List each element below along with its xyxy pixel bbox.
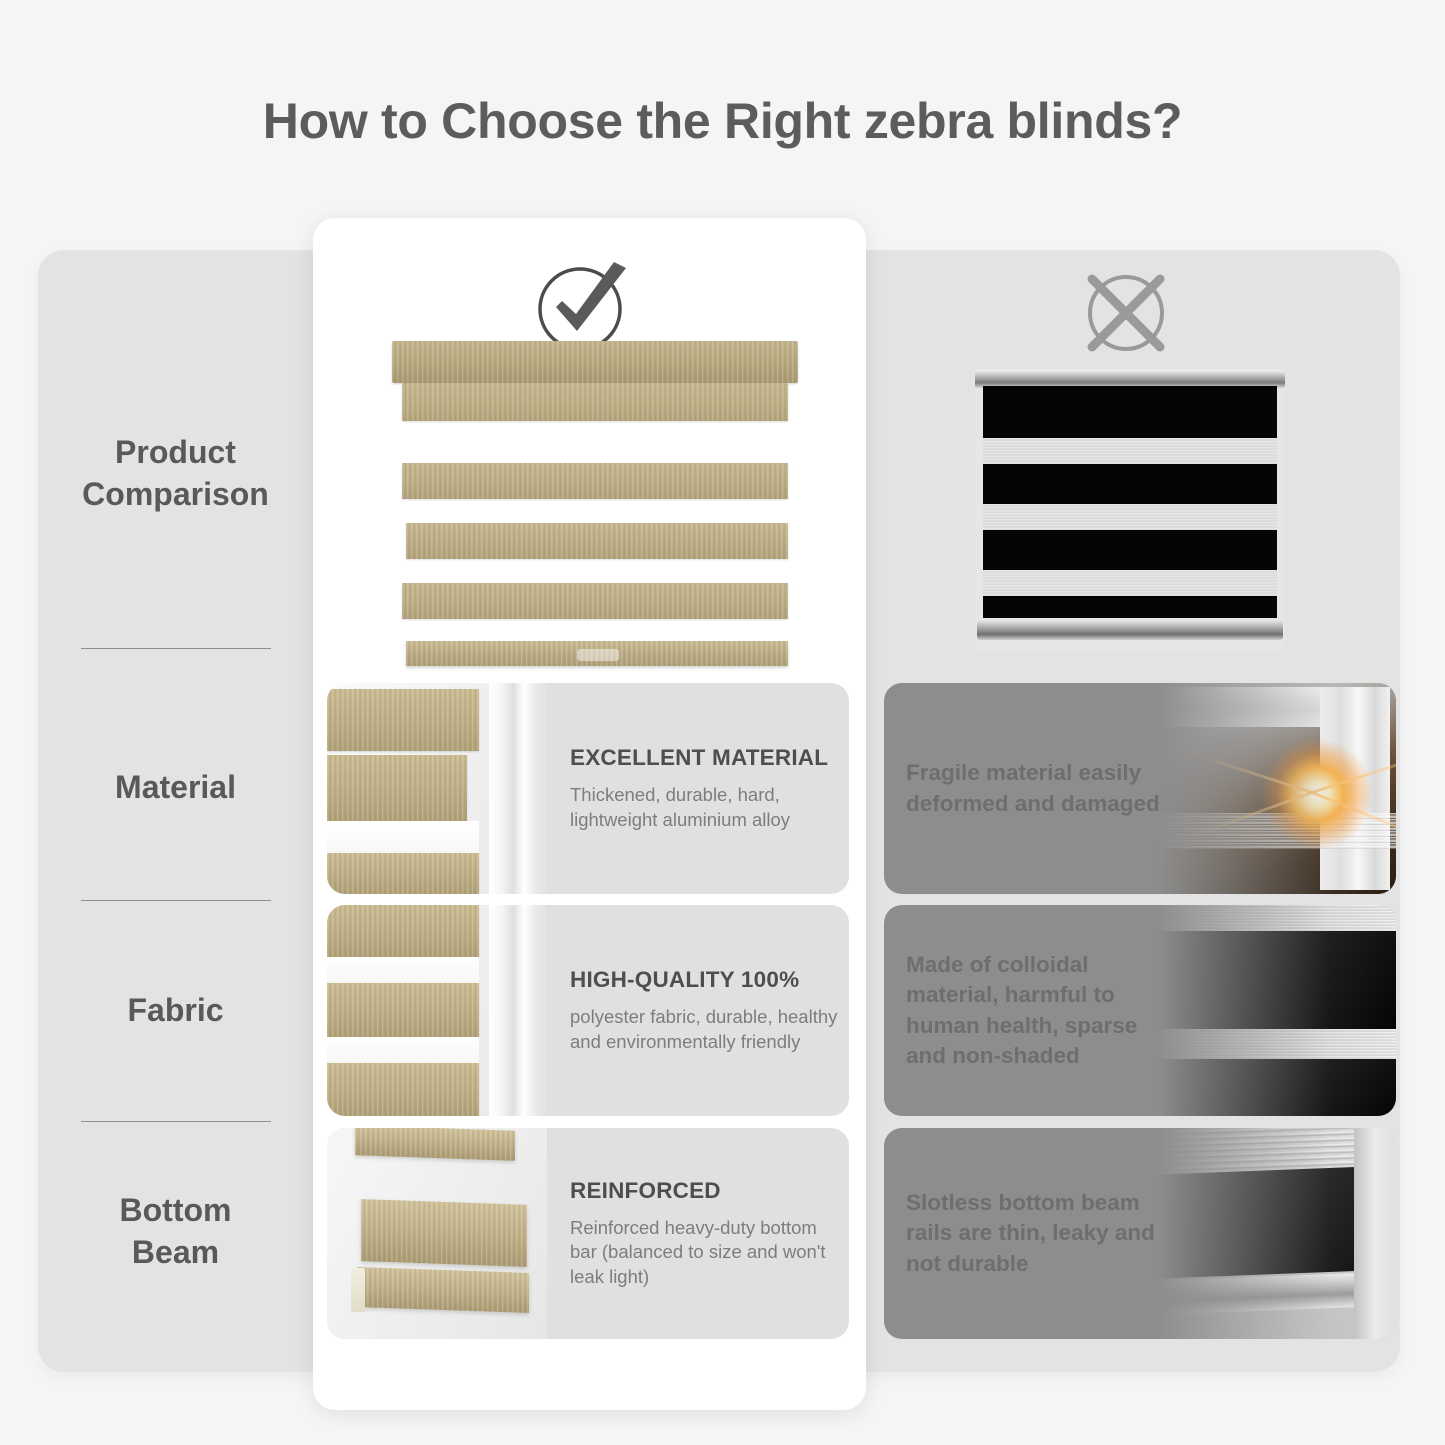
row-label-product-comparison: Product Comparison	[38, 432, 313, 515]
good-feature-card-bottom-beam: REINFORCED Reinforced heavy-duty bottom …	[327, 1128, 849, 1339]
beige-blind-bottom-bar-angle-image	[327, 1128, 547, 1339]
good-feature-card-fabric: HIGH-QUALITY 100% polyester fabric, dura…	[327, 905, 849, 1116]
blind-sheer-band	[983, 570, 1277, 596]
beige-blind-fabric-closeup-image	[327, 905, 547, 1116]
feature-description: Reinforced heavy-duty bottom bar (balanc…	[570, 1216, 840, 1289]
row-divider	[81, 900, 271, 901]
bad-feature-card-material: Fragile material easily deformed and dam…	[884, 683, 1396, 894]
blind-sheer-band	[983, 504, 1277, 530]
feature-description: Thickened, durable, hard, lightweight al…	[570, 783, 840, 832]
row-label-fabric: Fabric	[38, 990, 313, 1032]
row-divider	[81, 1121, 271, 1122]
blind-sheer-band	[983, 438, 1277, 464]
row-divider	[81, 648, 271, 649]
blind-pull-tab	[577, 649, 619, 661]
feature-description: polyester fabric, durable, healthy and e…	[570, 1005, 840, 1054]
feature-title: EXCELLENT MATERIAL	[570, 745, 840, 771]
cross-circle-icon	[1078, 266, 1174, 360]
row-label-bottom-beam: Bottom Beam	[38, 1190, 313, 1273]
feature-title: HIGH-QUALITY 100%	[570, 967, 840, 993]
feature-title: REINFORCED	[570, 1178, 840, 1204]
blind-slat	[406, 523, 788, 559]
blind-top-slat	[402, 383, 788, 421]
bad-feature-card-fabric: Made of colloidal material, harmful to h…	[884, 905, 1396, 1116]
blind-headrail	[392, 341, 798, 383]
blind-fabric	[983, 386, 1277, 618]
bad-feature-text-bottom-beam: Slotless bottom beam rails are thin, lea…	[906, 1128, 1162, 1339]
hero-beige-zebra-blind	[392, 341, 798, 666]
hero-black-zebra-blind	[975, 370, 1285, 650]
bad-feature-text-fabric: Made of colloidal material, harmful to h…	[906, 905, 1162, 1116]
blind-bottom-bar	[977, 620, 1283, 640]
good-feature-text-bottom-beam: REINFORCED Reinforced heavy-duty bottom …	[570, 1128, 840, 1339]
blind-slat	[402, 583, 788, 619]
good-feature-card-material: EXCELLENT MATERIAL Thickened, durable, h…	[327, 683, 849, 894]
beige-blind-window-frame-closeup-image	[327, 683, 547, 894]
good-feature-text-material: EXCELLENT MATERIAL Thickened, durable, h…	[570, 683, 840, 894]
bad-feature-text-material: Fragile material easily deformed and dam…	[906, 683, 1162, 894]
row-label-column: Product Comparison Material Fabric Botto…	[38, 250, 313, 1372]
row-label-material: Material	[38, 767, 313, 809]
blind-slat	[402, 463, 788, 499]
page-title: How to Choose the Right zebra blinds?	[0, 92, 1445, 150]
good-feature-text-fabric: HIGH-QUALITY 100% polyester fabric, dura…	[570, 905, 840, 1116]
bad-feature-card-bottom-beam: Slotless bottom beam rails are thin, lea…	[884, 1128, 1396, 1339]
